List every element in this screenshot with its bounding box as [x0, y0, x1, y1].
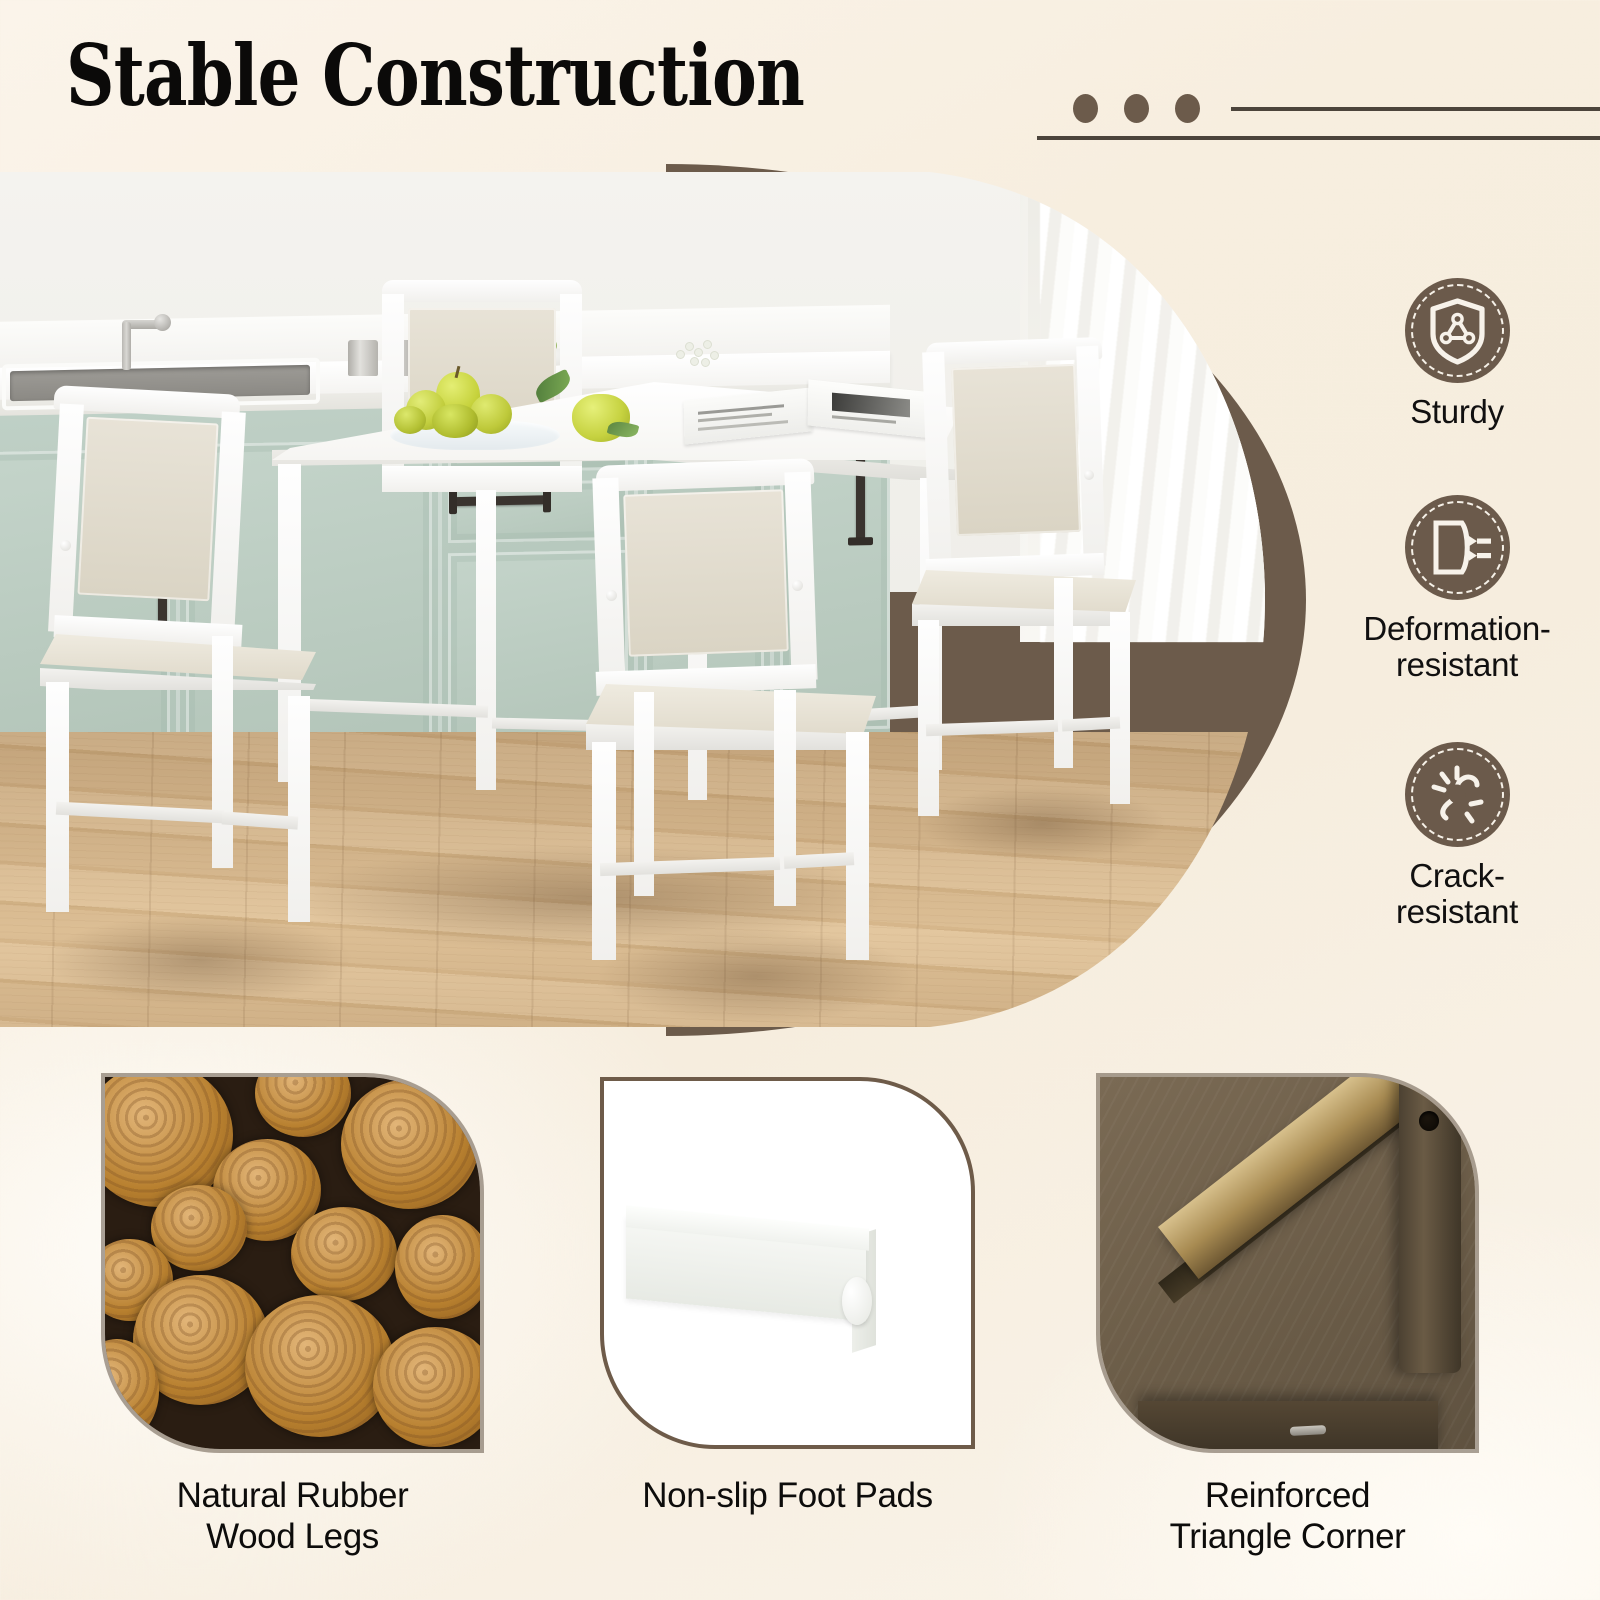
- feature-sturdy-label: Sturdy: [1327, 394, 1587, 430]
- page-title: Stable Construction: [66, 34, 804, 118]
- crack-burst-icon: [1405, 742, 1510, 847]
- thumbnail-card-triangle-corner: Reinforced Triangle Corner: [1100, 1077, 1475, 1558]
- non-slip-foot-pad-closeup: [600, 1077, 975, 1449]
- header-decoration: [1020, 78, 1600, 138]
- decor-line-bottom: [1037, 136, 1600, 140]
- feature-crack-label: Crack- resistant: [1327, 858, 1587, 929]
- hero-image: [0, 172, 1300, 1027]
- decor-dot-1: [1073, 94, 1098, 123]
- chair-front: [578, 462, 908, 982]
- thumbnail-caption-triangle-corner: Reinforced Triangle Corner: [1100, 1475, 1475, 1558]
- thumbnail-caption-wood-legs: Natural Rubber Wood Legs: [105, 1475, 480, 1558]
- table-leg-2: [476, 490, 496, 790]
- horizontal-post: [1138, 1401, 1438, 1449]
- decor-line-top: [1231, 107, 1600, 111]
- logs-stack: [105, 1077, 480, 1449]
- canister-1: [348, 340, 378, 376]
- stacked-wood-logs-photo: [105, 1077, 480, 1449]
- thumbnail-caption-foot-pads: Non-slip Foot Pads: [600, 1475, 975, 1516]
- compression-arrows-block-icon: [1405, 495, 1510, 600]
- feature-deformation-label: Deformation- resistant: [1327, 611, 1587, 682]
- chair-right: [912, 340, 1162, 840]
- feature-sturdy-badge: [1405, 278, 1510, 383]
- feature-crack-badge: [1405, 742, 1510, 847]
- decor-dot-3: [1175, 94, 1200, 123]
- decor-dot-2: [1124, 94, 1149, 123]
- reinforced-triangle-corner-brace-photo: [1100, 1077, 1475, 1449]
- open-magazine: [684, 384, 934, 442]
- thumbnail-card-wood-legs: Natural Rubber Wood Legs: [105, 1077, 480, 1558]
- feature-sturdy: Sturdy: [1327, 278, 1587, 430]
- feature-deformation-resistant: Deformation- resistant: [1327, 495, 1587, 682]
- faucet-knob: [154, 314, 171, 331]
- shield-triangle-icon: [1405, 278, 1510, 383]
- product-feature-page: Stable Construction: [0, 0, 1600, 1600]
- small-plant: [676, 340, 722, 370]
- kitchen-dining-set-scene: [0, 172, 1300, 1027]
- feature-crack-resistant: Crack- resistant: [1327, 742, 1587, 929]
- screw-hole: [1419, 1111, 1439, 1131]
- feature-deformation-badge: [1405, 495, 1510, 600]
- faucet: [122, 322, 131, 370]
- chair-left: [30, 390, 360, 950]
- hero-clip: [0, 172, 1300, 1027]
- fruit-bowl-with-quinces: [390, 376, 560, 450]
- thumbnail-card-foot-pads: Non-slip Foot Pads: [600, 1077, 975, 1516]
- non-slip-foot-pad: [842, 1277, 872, 1325]
- screw: [1290, 1425, 1326, 1436]
